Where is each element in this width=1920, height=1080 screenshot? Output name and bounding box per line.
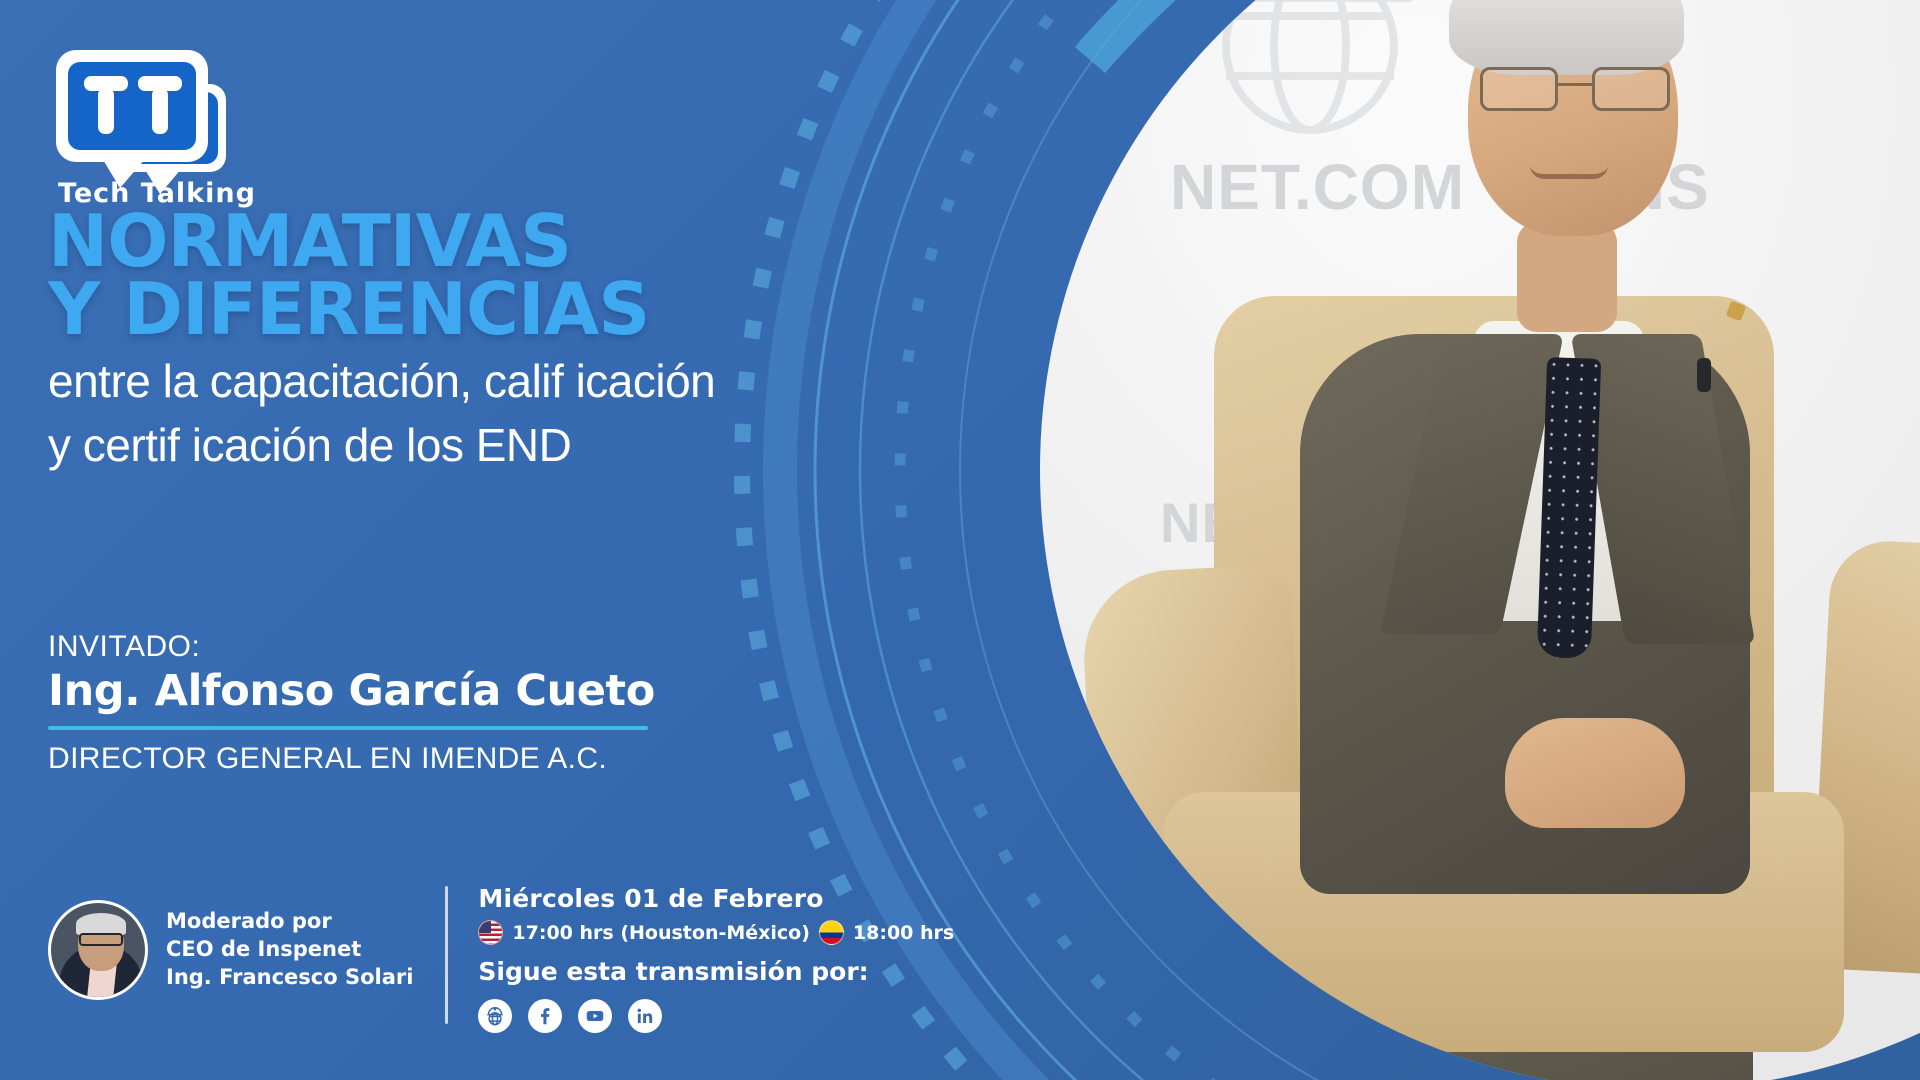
lapel-microphone-icon: [1697, 358, 1711, 392]
footer-bar: Moderado por CEO de Inspenet Ing. France…: [48, 878, 954, 1033]
facebook-icon[interactable]: [528, 999, 562, 1033]
subject-smile: [1530, 165, 1608, 179]
moderator-block: Moderado por CEO de Inspenet Ing. France…: [48, 878, 413, 1000]
moderator-avatar: [48, 900, 148, 1000]
headline-line-1: NORMATIVAS: [48, 208, 948, 276]
subject-tie: [1537, 358, 1601, 660]
event-date: Miércoles 01 de Febrero: [478, 884, 954, 913]
inspenet-globe-icon[interactable]: [478, 999, 512, 1033]
tech-talking-logo[interactable]: Tech Talking: [48, 42, 298, 209]
speech-bubble-icon: [48, 42, 238, 172]
guest-role: DIRECTOR GENERAL EN IMENDE A.C.: [48, 742, 668, 776]
subtitle-line-1: entre la capacitación, calif icación: [48, 357, 948, 407]
headline-line-2: Y DIFERENCIAS: [48, 276, 948, 344]
content-column: Tech Talking NORMATIVAS Y DIFERENCIAS en…: [0, 0, 1000, 1080]
subject-hair: [1449, 0, 1684, 75]
headline-block: NORMATIVAS Y DIFERENCIAS entre la capaci…: [48, 208, 948, 471]
us-flag-icon: [478, 920, 503, 945]
linkedin-icon[interactable]: [628, 999, 662, 1033]
moderator-text: Moderado por CEO de Inspenet Ing. France…: [166, 908, 413, 991]
vertical-divider: [445, 886, 448, 1024]
banner-stage: NET.COM INS INS NET.COM: [0, 0, 1920, 1080]
guest-label: INVITADO:: [48, 630, 668, 664]
subject-illustration: [1040, 0, 1920, 1080]
youtube-icon[interactable]: [578, 999, 612, 1033]
moderator-line-2: CEO de Inspenet: [166, 936, 413, 964]
time-houston-mexico: 17:00 hrs (Houston-México): [512, 922, 810, 944]
time-colombia: 18:00 hrs: [853, 922, 954, 944]
moderator-line-3: Ing. Francesco Solari: [166, 964, 413, 992]
follow-label: Sigue esta transmisión por:: [478, 957, 954, 986]
moderator-line-1: Moderado por: [166, 908, 413, 936]
subject-hands: [1505, 718, 1685, 828]
schedule-block: Miércoles 01 de Febrero 17:00 hrs (Houst…: [478, 878, 954, 1033]
subject-neck: [1517, 222, 1617, 332]
speaker-photo: NET.COM INS INS NET.COM: [1040, 0, 1920, 1080]
guest-name: Ing. Alfonso García Cueto: [48, 666, 668, 716]
guest-block: INVITADO: Ing. Alfonso García Cueto DIRE…: [48, 630, 668, 776]
colombia-flag-icon: [819, 920, 844, 945]
event-times: 17:00 hrs (Houston-México) 18:00 hrs: [478, 920, 954, 945]
divider-rule: [48, 726, 648, 730]
tt-monogram: [84, 76, 182, 134]
social-links: [478, 999, 954, 1033]
subtitle-line-2: y certif icación de los END: [48, 421, 948, 471]
eyeglasses-icon: [1480, 67, 1670, 113]
